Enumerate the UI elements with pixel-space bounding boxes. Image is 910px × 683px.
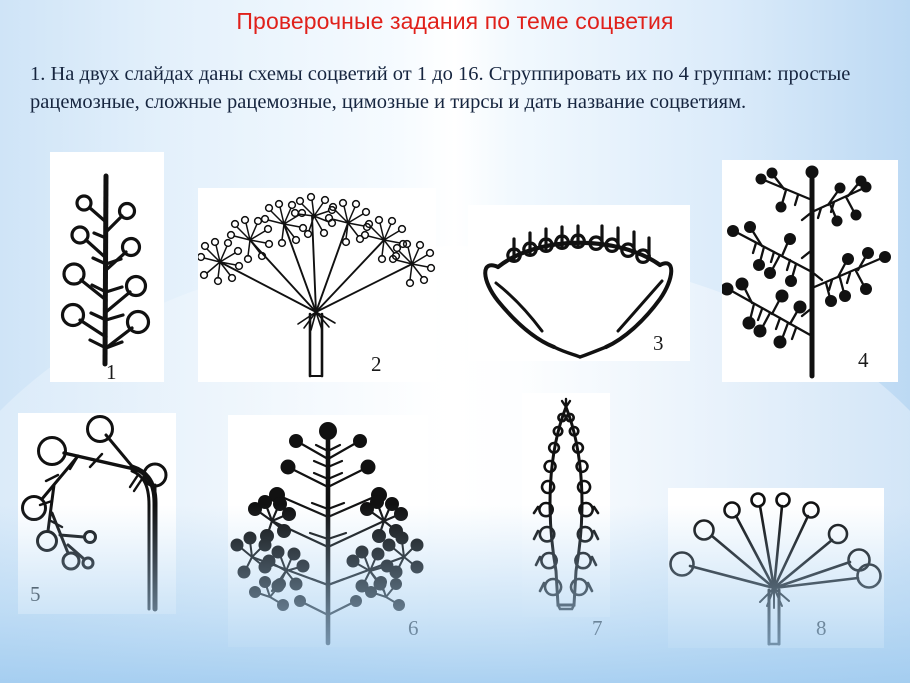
figure-card-8 xyxy=(668,488,884,648)
figure-number-1: 1 xyxy=(106,362,117,383)
figure-number-3: 3 xyxy=(653,333,664,354)
figure-card-1 xyxy=(50,152,164,382)
figure-number-5: 5 xyxy=(30,584,41,605)
figure-card-2 xyxy=(198,188,436,382)
figure-card-4 xyxy=(722,160,898,382)
figure-card-6 xyxy=(228,415,428,647)
figure-number-7: 7 xyxy=(592,618,603,639)
figure-number-6: 6 xyxy=(408,618,419,639)
page-title: Проверочные задания по теме соцветия xyxy=(0,8,910,35)
figure-card-5 xyxy=(18,413,176,614)
figure-number-2: 2 xyxy=(371,354,382,375)
figure-number-4: 4 xyxy=(858,350,869,371)
task-instruction-text: 1. На двух слайдах даны схемы соцветий о… xyxy=(30,60,875,116)
slide-content-layer: Проверочные задания по теме соцветия 1. … xyxy=(0,0,910,683)
figure-number-8: 8 xyxy=(816,618,827,639)
figure-card-7 xyxy=(522,393,610,617)
slide-canvas: Проверочные задания по теме соцветия 1. … xyxy=(0,0,910,683)
